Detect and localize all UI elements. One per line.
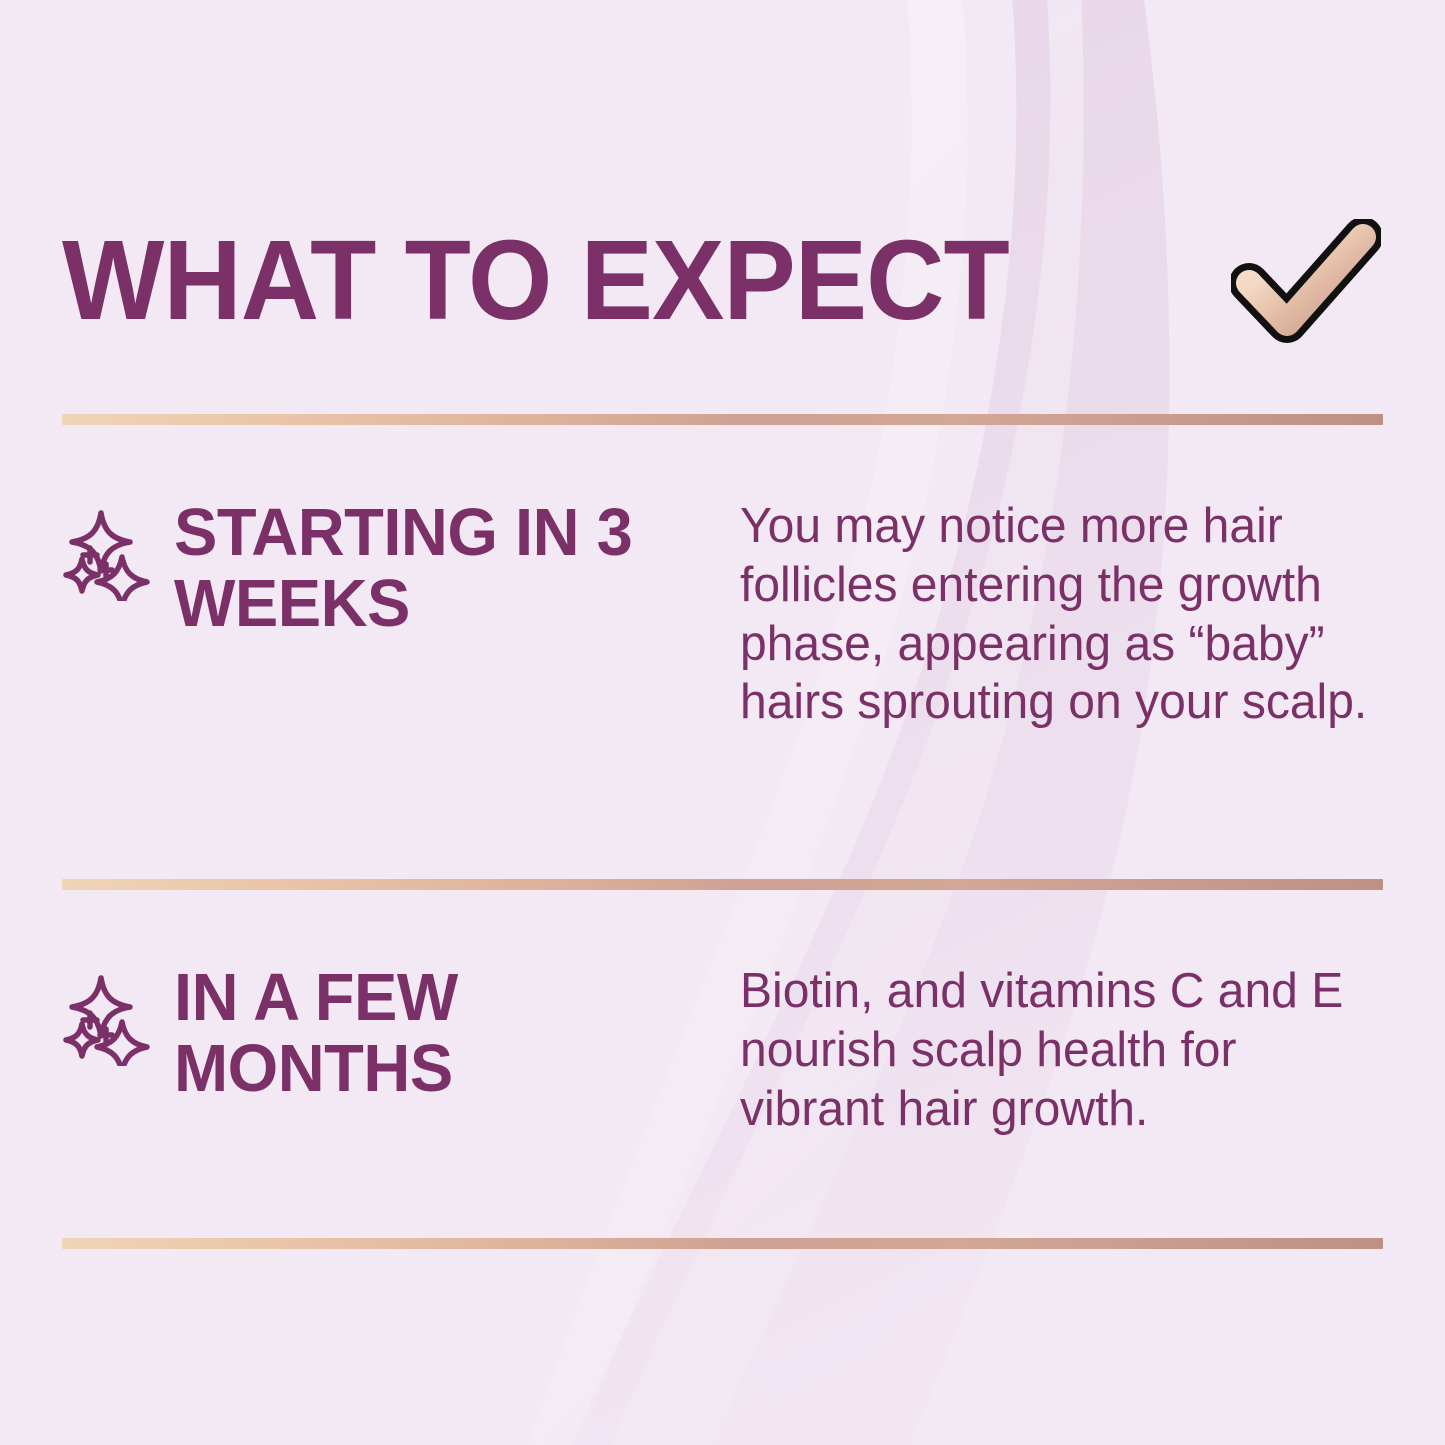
section-body-col: Biotin, and vitamins C and E nourish sca…: [734, 962, 1383, 1138]
check-icon: [1231, 219, 1381, 343]
section-heading: STARTING IN 3 WEEKS: [174, 497, 717, 639]
section-body-col: You may notice more hair follicles enter…: [734, 497, 1383, 732]
divider-top: [62, 414, 1383, 425]
infographic-canvas: WHAT TO EXPECT: [0, 0, 1445, 1445]
section-row-starting-in-3-weeks: STARTING IN 3 WEEKS You may notice more …: [62, 497, 1383, 732]
content-wrapper: WHAT TO EXPECT: [62, 0, 1383, 1445]
sparkles-icon: [62, 505, 158, 601]
page-title: WHAT TO EXPECT: [62, 224, 1009, 337]
section-heading-col: STARTING IN 3 WEEKS: [174, 497, 734, 639]
divider-bottom: [62, 1238, 1383, 1249]
section-heading: IN A FEW MONTHS: [174, 962, 717, 1104]
section-body-text: You may notice more hair follicles enter…: [740, 497, 1370, 732]
section-body-text: Biotin, and vitamins C and E nourish sca…: [740, 962, 1370, 1138]
section-heading-col: IN A FEW MONTHS: [174, 962, 734, 1104]
section-row-in-a-few-months: IN A FEW MONTHS Biotin, and vitamins C a…: [62, 962, 1383, 1138]
sparkles-icon: [62, 970, 158, 1066]
header-row: WHAT TO EXPECT: [62, 213, 1383, 348]
divider-middle: [62, 879, 1383, 890]
